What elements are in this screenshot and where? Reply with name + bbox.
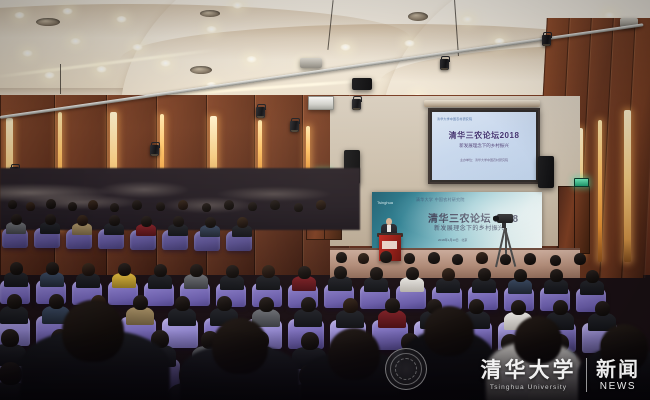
audience-head	[88, 200, 98, 210]
auditorium-photo: 清华大学中国农村研究院 清华三农论坛2018 新发展理念下的乡村振兴 主办单位：…	[0, 0, 650, 400]
audience-head	[595, 301, 610, 316]
audience-head	[370, 267, 383, 280]
audience-head	[294, 203, 303, 212]
downlight	[44, 72, 55, 79]
screen-footnote: 主办单位：清华大学中国农村研究院	[460, 158, 508, 162]
audience-head	[49, 294, 64, 309]
audience-head	[336, 252, 347, 263]
audience-head	[262, 265, 275, 278]
audience-head	[224, 200, 234, 210]
ceiling-vent	[190, 66, 212, 74]
audience-head	[226, 265, 239, 278]
audience-head	[237, 217, 248, 228]
audience-head	[26, 202, 35, 211]
screen-subtitle: 新发展理念下的乡村振兴	[459, 143, 509, 149]
audience-head	[8, 200, 17, 209]
audience-head	[118, 263, 131, 276]
audience-head	[217, 296, 232, 311]
screen-roller-housing	[424, 100, 540, 107]
audience-head	[11, 214, 22, 225]
screen-logo-text: 清华大学中国农村研究院	[437, 117, 472, 121]
audience-head	[406, 267, 419, 280]
spotlight-lens	[257, 116, 264, 118]
audience-head	[1, 329, 19, 347]
audience-head	[178, 200, 188, 210]
audience-head	[334, 266, 347, 279]
audience-head	[428, 252, 440, 264]
audience-head	[205, 217, 216, 228]
audience-head	[110, 203, 119, 212]
audience-head	[343, 298, 358, 313]
audience-head	[301, 332, 319, 350]
spotlight-lens	[543, 44, 550, 46]
audience-head	[10, 262, 23, 275]
audience-head	[301, 297, 316, 312]
downlight	[246, 56, 257, 63]
audience-head	[550, 255, 561, 266]
downlight	[232, 2, 243, 9]
audience-head	[380, 251, 392, 263]
audience-head	[77, 215, 88, 226]
downlight	[14, 12, 25, 19]
audience-head	[452, 254, 463, 265]
downlight	[22, 50, 33, 57]
stage-spotlight	[256, 104, 265, 118]
audience-head	[476, 252, 488, 264]
foreground-head	[514, 316, 562, 364]
audience-head	[500, 254, 511, 265]
audience-head	[175, 296, 190, 311]
audience-head	[45, 214, 56, 225]
audience-head	[202, 203, 211, 212]
audience-head	[385, 298, 400, 313]
audience-head	[46, 262, 59, 275]
foreground-head	[212, 318, 268, 374]
audience-head	[550, 269, 563, 282]
audience-head	[133, 295, 148, 310]
stage-spotlight	[150, 142, 159, 156]
audience-head	[524, 253, 536, 265]
audience-head	[82, 263, 95, 276]
audience-head	[574, 253, 586, 265]
audience-head	[68, 202, 77, 211]
screen-title: 清华三农论坛2018	[449, 130, 520, 141]
audience-head	[46, 199, 56, 209]
stage-spotlight	[352, 96, 361, 110]
audience-head	[156, 202, 165, 211]
audience-head	[358, 253, 369, 264]
downlight	[62, 8, 73, 15]
audience-head	[511, 300, 526, 315]
audience-head	[248, 202, 257, 211]
foreground-head	[62, 300, 124, 362]
audience-head	[190, 264, 203, 277]
ceiling-vent	[408, 12, 428, 21]
audience-head	[478, 268, 491, 281]
truss-control-box	[308, 96, 334, 110]
downlight	[70, 38, 81, 45]
audience-head	[132, 200, 142, 210]
downlight	[462, 16, 473, 23]
audience-head	[173, 216, 184, 227]
stage-spotlight	[440, 56, 449, 70]
audience-head	[514, 269, 527, 282]
foreground-head	[424, 306, 474, 356]
audience-head	[469, 299, 484, 314]
audience-head	[7, 294, 22, 309]
audience-head	[109, 215, 120, 226]
downlight	[404, 40, 415, 47]
audience-head	[141, 216, 152, 227]
audience-head	[270, 200, 280, 210]
downlight	[132, 44, 143, 51]
ceiling-projector	[300, 58, 322, 68]
audience-head	[316, 200, 326, 210]
audience-head	[298, 266, 311, 279]
audience-head	[259, 297, 274, 312]
downlight	[340, 44, 351, 51]
foreground-head	[328, 328, 380, 380]
audience-head	[586, 270, 599, 283]
audience-head	[154, 264, 167, 277]
stage-spotlight	[542, 32, 551, 46]
downlight	[160, 60, 171, 67]
spotlight-lens	[291, 130, 298, 132]
spotlight-lens	[151, 154, 158, 156]
spotlight-lens	[353, 108, 360, 110]
audience-head	[442, 268, 455, 281]
downlight	[206, 26, 217, 33]
downlight	[116, 16, 127, 23]
audience-head	[404, 253, 415, 264]
foreground-head	[600, 324, 648, 372]
audience-head	[0, 362, 22, 385]
stage-spotlight	[290, 118, 299, 132]
downlight	[96, 66, 107, 73]
ceiling-vent	[200, 10, 220, 17]
ceiling-speaker	[352, 78, 372, 90]
ceiling-vent	[36, 18, 60, 26]
audience-head	[553, 300, 568, 315]
spotlight-lens	[441, 68, 448, 70]
hanging-wire	[60, 64, 61, 94]
